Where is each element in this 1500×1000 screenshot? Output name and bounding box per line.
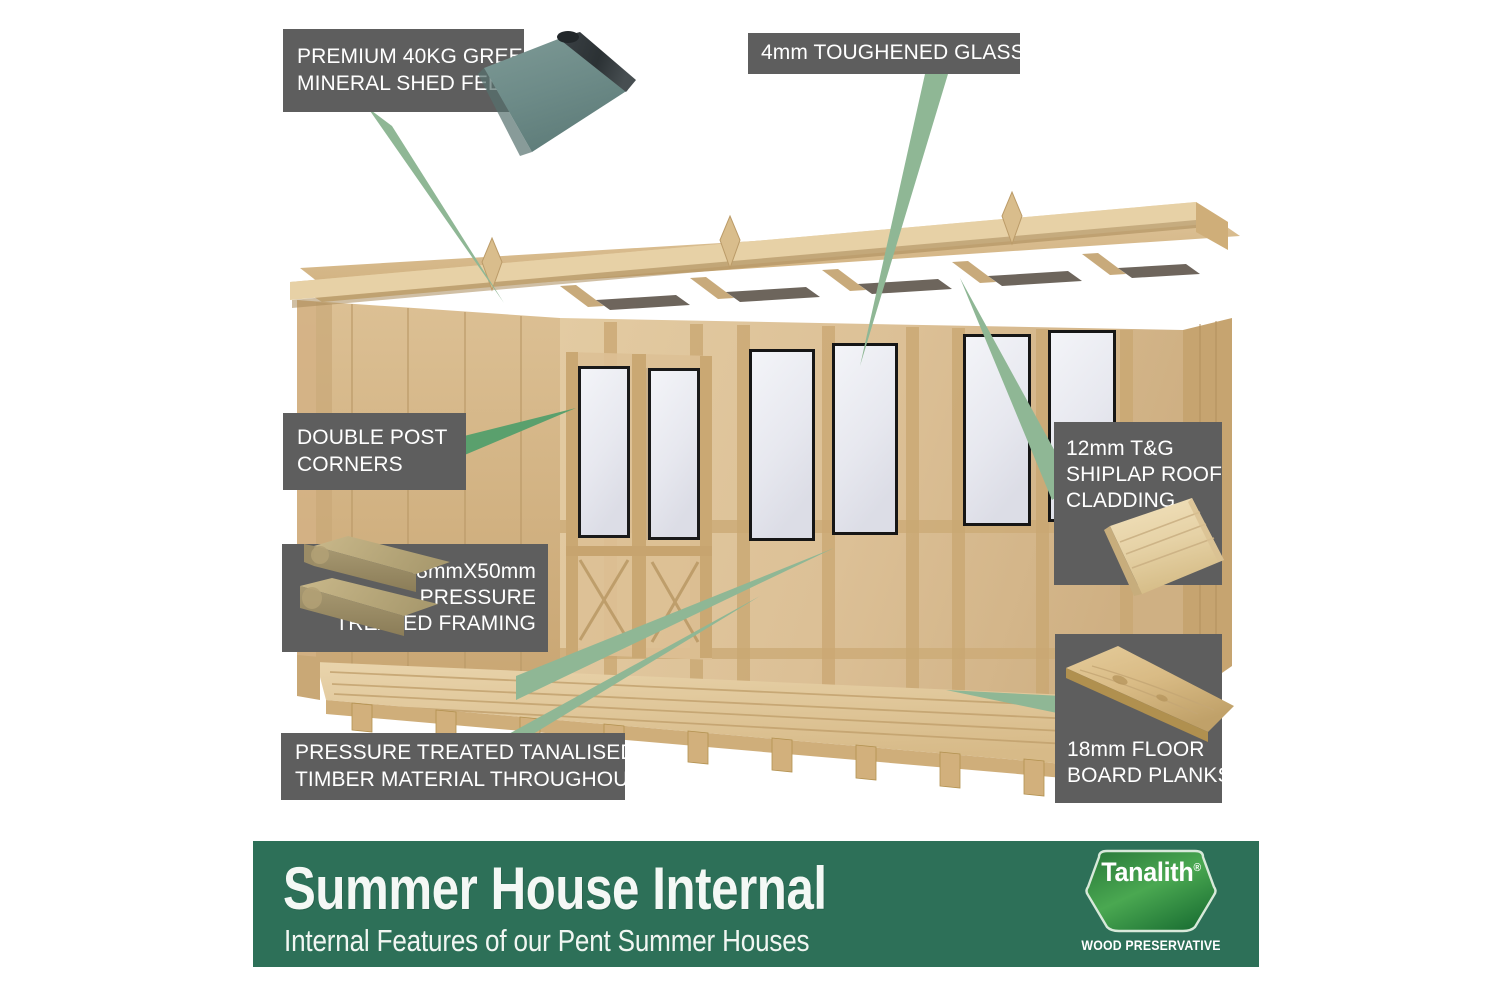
- callout-double-post-corners[interactable]: DOUBLE POST CORNERS: [283, 413, 466, 490]
- callout-tanalised-timber[interactable]: PRESSURE TREATED TANALISED TIMBER MATERI…: [281, 733, 625, 800]
- callout-floorboard-line-2: BOARD PLANKS: [1067, 763, 1210, 789]
- callout-tanalised-line-2: TIMBER MATERIAL THROUGHOUT.: [295, 767, 611, 793]
- infographic-canvas: PREMIUM 40KG GREEN MINERAL SHED FELT 4mm…: [0, 0, 1500, 1000]
- callout-shiplap-line-2: SHIPLAP ROOF: [1066, 462, 1210, 488]
- callout-double-post-corners-line-1: DOUBLE POST: [297, 425, 452, 451]
- timber-framing-image: [296, 528, 466, 648]
- tanalith-tagline: WOOD PRESERVATIVE: [1072, 937, 1230, 953]
- callout-shiplap-line-1: 12mm T&G: [1066, 436, 1210, 462]
- callout-toughened-glass-line-1: 4mm TOUGHENED GLASS: [761, 40, 1007, 66]
- page-subtitle: Internal Features of our Pent Summer Hou…: [284, 925, 809, 956]
- tanalith-wordmark: Tanalith®: [1067, 857, 1234, 888]
- callout-double-post-corners-line-2: CORNERS: [297, 452, 452, 478]
- tanalith-logo: Tanalith® WOOD PRESERVATIVE: [1061, 847, 1241, 963]
- callout-tanalised-line-1: PRESSURE TREATED TANALISED: [295, 740, 611, 766]
- floor-board-plank-image: [1058, 640, 1248, 760]
- callout-toughened-glass[interactable]: 4mm TOUGHENED GLASS: [748, 33, 1020, 74]
- shiplap-cladding-image: [1096, 490, 1236, 610]
- shed-felt-roll-image: [458, 30, 648, 180]
- bottom-banner: Summer House Internal Internal Features …: [253, 841, 1259, 967]
- page-title: Summer House Internal: [283, 859, 827, 919]
